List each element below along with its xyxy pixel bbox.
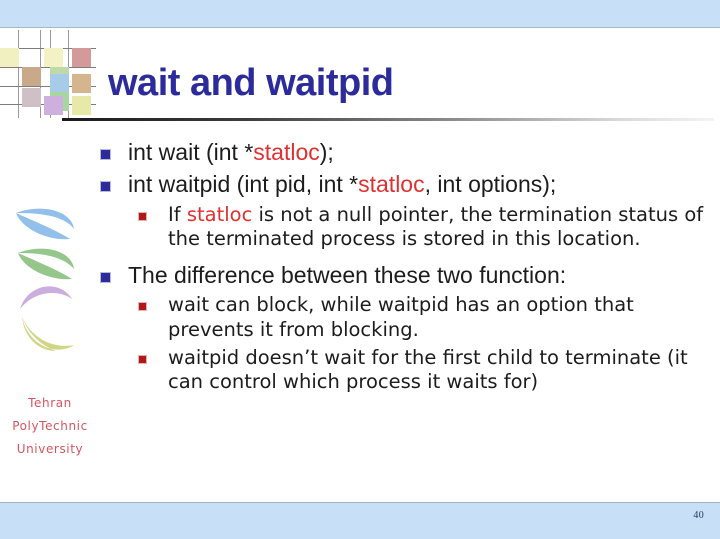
grid-color-square <box>22 67 41 86</box>
bullet-square-icon <box>100 149 111 160</box>
grid-color-square <box>0 48 19 67</box>
slide-body: int wait (int *statloc);int waitpid (int… <box>96 138 712 398</box>
bullet-text: wait can block, while waitpid has an opt… <box>168 293 634 341</box>
grid-horizontal-line <box>0 67 96 68</box>
sub-bullet-item: waitpid doesn’t wait for the first child… <box>132 346 712 395</box>
bullet-square-icon <box>100 272 111 283</box>
bullet-square-icon <box>100 181 111 192</box>
grid-color-square <box>44 96 63 115</box>
sub-bullet-square-icon <box>138 302 147 311</box>
text-segment: int wait (int * <box>128 139 253 165</box>
text-segment: , int options); <box>425 171 557 197</box>
bullet-text: int waitpid (int pid, int *statloc, int … <box>128 171 556 197</box>
sub-bullet-square-icon <box>138 355 147 364</box>
top-decorative-bar <box>0 0 720 28</box>
university-logo-text: Tehran PolyTechnic University <box>0 392 100 461</box>
highlighted-term: statloc <box>358 171 424 197</box>
bullet-text: int wait (int *statloc); <box>128 139 334 165</box>
logo-line-3: University <box>0 438 100 461</box>
grid-color-square <box>72 96 91 115</box>
text-segment: wait can block, while waitpid has an opt… <box>168 293 634 341</box>
bottom-decorative-bar: 40 <box>0 502 720 539</box>
bullet-text: If statloc is not a null pointer, the te… <box>168 203 703 251</box>
sub-bullet-item: wait can block, while waitpid has an opt… <box>132 293 712 342</box>
page-title: wait and waitpid <box>108 62 393 105</box>
sub-bullet-item: If statloc is not a null pointer, the te… <box>132 203 712 252</box>
text-segment: int waitpid (int pid, int * <box>128 171 358 197</box>
logo-line-2: PolyTechnic <box>0 415 100 438</box>
slide: wait and waitpid Tehran PolyTechnic Univ… <box>0 0 720 539</box>
highlighted-term: statloc <box>253 139 319 165</box>
title-underline-rule <box>62 118 714 121</box>
bullet-text: waitpid doesn’t wait for the first child… <box>168 346 688 394</box>
bullet-item: int wait (int *statloc); <box>96 138 712 167</box>
text-segment: If <box>168 203 187 226</box>
grid-color-square <box>50 74 69 93</box>
highlighted-term: statloc <box>187 203 252 226</box>
grid-color-square <box>72 48 91 67</box>
bullet-item: The difference between these two functio… <box>96 261 712 290</box>
page-number: 40 <box>693 510 704 521</box>
text-segment: waitpid doesn’t wait for the first child… <box>168 346 688 394</box>
logo-line-1: Tehran <box>0 392 100 415</box>
text-segment: The difference between these two functio… <box>128 262 566 288</box>
grid-color-square <box>22 88 41 107</box>
grid-decoration <box>0 30 96 118</box>
bullet-item: int waitpid (int pid, int *statloc, int … <box>96 170 712 199</box>
grid-color-square <box>72 74 91 93</box>
grid-color-square <box>44 48 63 67</box>
bullet-text: The difference between these two functio… <box>128 262 566 288</box>
sub-bullet-square-icon <box>138 212 147 221</box>
university-logo-icon <box>8 205 84 375</box>
text-segment: ); <box>320 139 334 165</box>
